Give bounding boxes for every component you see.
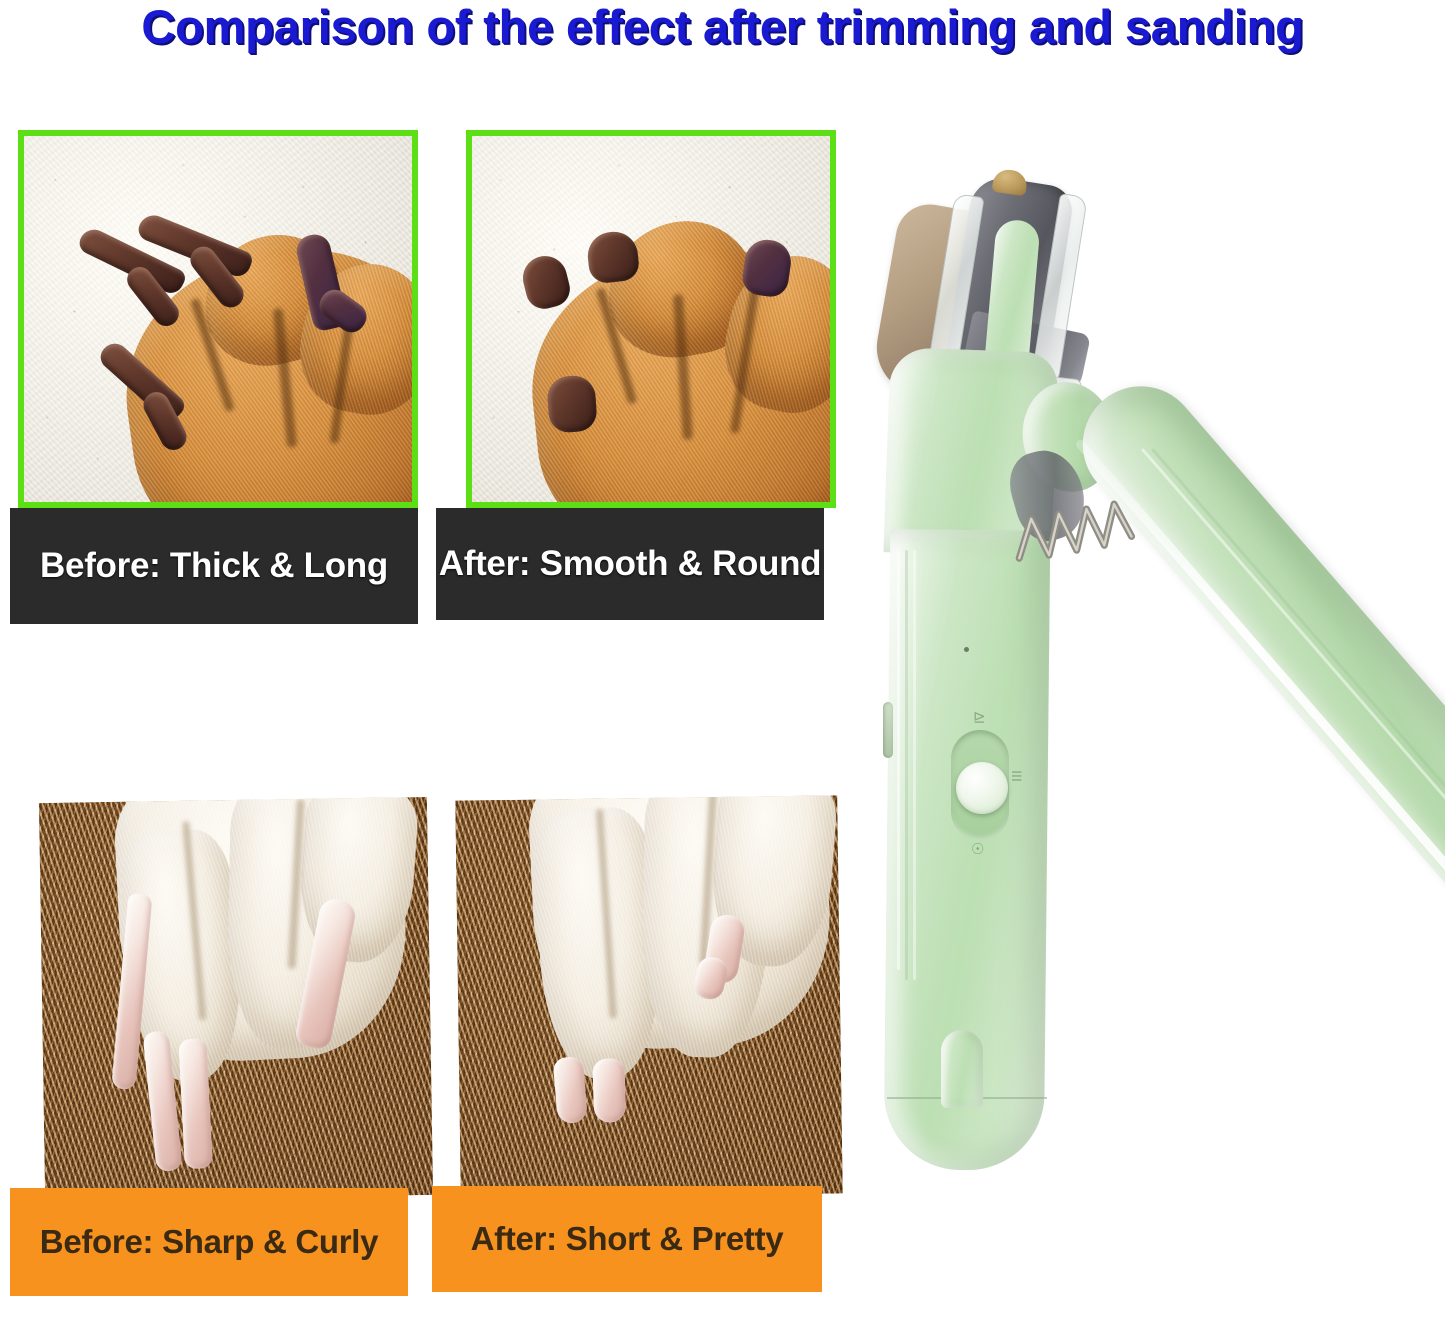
comparison-photo-bottom-right: [455, 795, 843, 1198]
lower-lever-handle: [1059, 363, 1445, 967]
grip-rib: [913, 550, 916, 980]
switch-label-O: ☉: [971, 840, 984, 858]
comparison-photo-top-right: [466, 130, 836, 508]
label-text: After: Short & Pretty: [471, 1220, 784, 1258]
dog-nail-short-pale: [592, 1058, 626, 1123]
comparison-photo-top-left: [18, 130, 418, 508]
switch-label-II: III: [1009, 770, 1025, 782]
comparison-photo-bottom-left: [39, 797, 433, 1201]
bottom-protrusion: [941, 1030, 983, 1108]
label-text: After: Smooth & Round: [439, 544, 822, 584]
dog-nail-short: [546, 374, 598, 433]
label-text: Before: Sharp & Curly: [40, 1223, 378, 1261]
top-cap: [991, 168, 1028, 196]
page-title: Comparison of the effect after trimming …: [0, 2, 1445, 53]
product-nail-clipper: ⊵ III ☉: [845, 150, 1445, 1310]
grip-rib: [905, 550, 908, 980]
label-top-right: After: Smooth & Round: [436, 508, 824, 620]
grip-rib: [897, 550, 900, 970]
label-top-left: Before: Thick & Long: [10, 508, 418, 624]
slider-switch-knob[interactable]: [956, 762, 1008, 814]
dog-nail-short-pale: [553, 1056, 588, 1124]
poster-canvas: Comparison of the effect after trimming …: [0, 0, 1445, 1317]
label-bottom-right: After: Short & Pretty: [432, 1186, 822, 1292]
led-indicator: [964, 647, 969, 652]
switch-label-I: ⊵: [973, 708, 986, 726]
side-port-notch: [883, 702, 893, 758]
label-bottom-left: Before: Sharp & Curly: [10, 1188, 408, 1296]
coil-spring: [1009, 487, 1147, 580]
label-text: Before: Thick & Long: [40, 546, 388, 586]
